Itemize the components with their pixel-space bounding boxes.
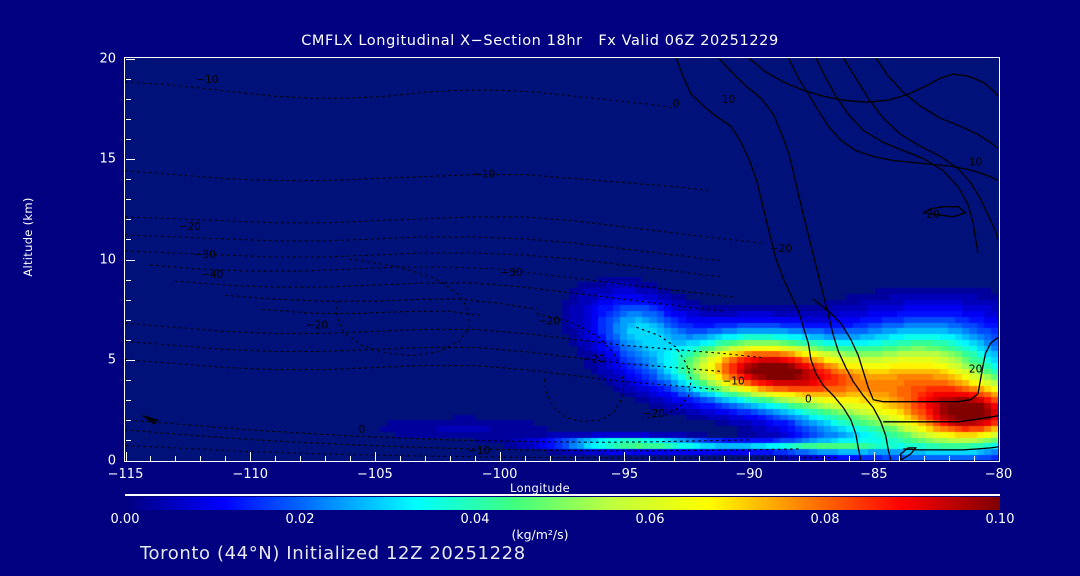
colorbar[interactable] xyxy=(125,497,1000,510)
y-minor-tick xyxy=(126,179,131,180)
x-minor-tick xyxy=(225,456,226,461)
x-major-tick xyxy=(874,452,875,461)
x-minor-tick xyxy=(774,456,775,461)
x-tick-label: −100 xyxy=(482,467,518,482)
temperature-contour xyxy=(125,217,761,243)
wind-barb-icon xyxy=(142,416,158,424)
contour-label: 0 xyxy=(673,98,680,110)
colorbar-tick-label: 0.00 xyxy=(111,512,140,527)
isotach-contour xyxy=(676,58,861,460)
contour-label: 0 xyxy=(359,424,366,436)
x-minor-tick xyxy=(724,456,725,461)
y-minor-tick xyxy=(126,340,131,341)
colorbar-top-rule xyxy=(125,494,1000,496)
x-minor-tick xyxy=(350,456,351,461)
x-major-tick xyxy=(624,452,625,461)
contour-label: −40 xyxy=(201,269,223,281)
colorbar-units-label: (kg/m²/s) xyxy=(0,527,1080,542)
x-minor-tick xyxy=(150,456,151,461)
colorbar-tick-label: 0.02 xyxy=(286,512,315,527)
x-minor-tick xyxy=(575,456,576,461)
contour-label: 10 xyxy=(969,157,982,169)
contour-label: 10 xyxy=(722,94,735,106)
x-minor-tick xyxy=(275,456,276,461)
colorbar-tick-label: 0.04 xyxy=(461,512,490,527)
x-minor-tick xyxy=(824,456,825,461)
x-minor-tick xyxy=(200,456,201,461)
contour-label: 20 xyxy=(926,209,939,221)
y-minor-tick xyxy=(126,440,131,441)
y-major-tick xyxy=(126,360,135,361)
y-minor-tick xyxy=(126,320,131,321)
x-tick-label: −115 xyxy=(108,467,144,482)
x-major-tick xyxy=(500,452,501,461)
temperature-contour xyxy=(262,309,479,315)
x-minor-tick xyxy=(400,456,401,461)
x-minor-tick xyxy=(974,456,975,461)
isotach-contour xyxy=(749,58,998,102)
temperature-contour xyxy=(337,259,469,356)
contour-label: −10 xyxy=(473,169,495,181)
y-major-tick xyxy=(126,260,135,261)
cross-section-plot[interactable]: −10−20−30−40−10−30−20−20−20−200−10−20−10… xyxy=(124,57,1000,462)
isotach-contour xyxy=(816,58,978,253)
x-minor-tick xyxy=(425,456,426,461)
contour-label: −10 xyxy=(723,376,745,388)
x-major-tick xyxy=(375,452,376,461)
x-minor-tick xyxy=(699,456,700,461)
x-minor-tick xyxy=(450,456,451,461)
contour-label: −30 xyxy=(501,267,523,279)
isotach-contour xyxy=(813,299,998,402)
contour-label: −20 xyxy=(643,408,665,420)
y-minor-tick xyxy=(126,280,131,281)
contour-label: −20 xyxy=(770,243,792,255)
y-minor-tick xyxy=(126,199,131,200)
x-minor-tick xyxy=(649,456,650,461)
contour-label: −30 xyxy=(194,249,216,261)
contour-label: 0 xyxy=(805,394,812,406)
y-minor-tick xyxy=(126,139,131,140)
contour-label: −20 xyxy=(583,354,605,366)
temperature-contour xyxy=(537,313,624,422)
isotach-contour xyxy=(876,58,998,148)
isotach-contour xyxy=(903,447,998,450)
contour-label: −20 xyxy=(179,221,201,233)
y-minor-tick xyxy=(126,380,131,381)
isotach-contour xyxy=(843,58,998,241)
x-tick-label: −95 xyxy=(611,467,638,482)
isotach-contour xyxy=(883,416,998,422)
y-minor-tick xyxy=(126,99,131,100)
x-minor-tick xyxy=(525,456,526,461)
x-minor-tick xyxy=(924,456,925,461)
contour-overlay: −10−20−30−40−10−30−20−20−20−200−10−20−10… xyxy=(125,58,998,460)
x-minor-tick xyxy=(475,456,476,461)
y-tick-label: 5 xyxy=(78,353,116,368)
x-tick-label: −90 xyxy=(735,467,762,482)
colorbar-tick-label: 0.06 xyxy=(636,512,665,527)
x-minor-tick xyxy=(849,456,850,461)
y-tick-label: 15 xyxy=(78,152,116,167)
x-minor-tick xyxy=(550,456,551,461)
x-major-tick xyxy=(999,452,1000,461)
chart-stage: CMFLX Longitudinal X−Section 18hr Fx Val… xyxy=(0,0,1080,576)
temperature-contour xyxy=(125,420,749,443)
temperature-contour xyxy=(636,327,691,418)
x-tick-label: −105 xyxy=(357,467,393,482)
temperature-contour xyxy=(150,265,736,297)
y-minor-tick xyxy=(126,239,131,240)
contour-label: −20 xyxy=(306,319,328,331)
colorbar-tick-label: 0.08 xyxy=(811,512,840,527)
x-tick-label: −110 xyxy=(232,467,268,482)
x-minor-tick xyxy=(799,456,800,461)
y-minor-tick xyxy=(126,400,131,401)
y-tick-label: 0 xyxy=(78,453,116,468)
y-tick-label: 10 xyxy=(78,252,116,267)
y-major-tick xyxy=(126,159,135,160)
y-minor-tick xyxy=(126,219,131,220)
temperature-contour xyxy=(175,281,724,311)
x-minor-tick xyxy=(300,456,301,461)
x-major-tick xyxy=(250,452,251,461)
page-title: CMFLX Longitudinal X−Section 18hr Fx Val… xyxy=(0,33,1080,49)
x-minor-tick xyxy=(674,456,675,461)
temperature-contour xyxy=(125,430,799,451)
contour-label: 20 xyxy=(969,364,982,376)
x-minor-tick xyxy=(899,456,900,461)
x-minor-tick xyxy=(175,456,176,461)
y-minor-tick xyxy=(126,119,131,120)
x-tick-label: −80 xyxy=(985,467,1012,482)
y-major-tick xyxy=(126,461,135,462)
x-major-tick xyxy=(749,452,750,461)
y-minor-tick xyxy=(126,300,131,301)
x-minor-tick xyxy=(325,456,326,461)
x-tick-label: −85 xyxy=(860,467,887,482)
y-axis-label: Altitude (km) xyxy=(21,167,35,307)
temperature-contour xyxy=(125,171,711,191)
colorbar-tick-label: 0.10 xyxy=(986,512,1015,527)
y-major-tick xyxy=(126,59,135,60)
x-minor-tick xyxy=(949,456,950,461)
y-minor-tick xyxy=(126,79,131,80)
contour-label: −10 xyxy=(468,445,490,457)
contour-label: −20 xyxy=(538,315,560,327)
footer-caption: Toronto (44°N) Initialized 12Z 20251228 xyxy=(140,543,526,564)
temperature-contour xyxy=(225,295,537,309)
x-minor-tick xyxy=(599,456,600,461)
y-minor-tick xyxy=(126,420,131,421)
x-axis-label: Longitude xyxy=(0,481,1080,495)
contour-label: −10 xyxy=(196,74,218,86)
y-tick-label: 20 xyxy=(78,51,116,66)
